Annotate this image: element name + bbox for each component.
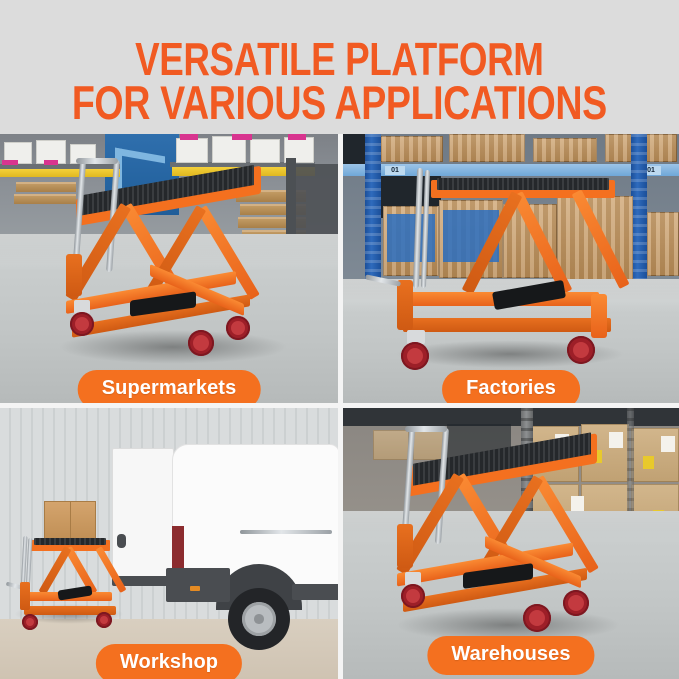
cardboard-box xyxy=(44,501,96,541)
rack-upright xyxy=(365,134,381,284)
panel-supermarkets[interactable]: Supermarkets xyxy=(0,134,338,403)
van-marker-light xyxy=(190,586,200,591)
pump-housing xyxy=(20,582,30,610)
pink-label xyxy=(180,134,198,140)
cardboard-carton xyxy=(373,430,409,460)
panel-label-supermarkets[interactable]: Supermarkets xyxy=(78,370,261,403)
stock-carton xyxy=(212,136,246,163)
caster-wheel xyxy=(567,336,595,364)
shipping-label xyxy=(609,432,623,448)
page-title-line-2: FOR VARIOUS APPLICATIONS xyxy=(72,81,607,125)
van-rear-bumper xyxy=(166,568,230,602)
wood-crate xyxy=(449,134,525,162)
pink-label xyxy=(2,160,18,165)
wood-pallet xyxy=(14,194,76,204)
pink-label xyxy=(44,160,58,165)
panel-label-factories[interactable]: Factories xyxy=(442,370,580,403)
panel-factories[interactable]: 01 01 xyxy=(343,134,679,403)
pink-label xyxy=(288,134,306,140)
shelf-price-strip xyxy=(0,169,120,177)
push-handle-crossbar xyxy=(405,426,447,432)
wood-crate xyxy=(373,136,443,162)
panel-workshop[interactable]: Workshop xyxy=(0,408,338,679)
beam-location-tag: 01 xyxy=(385,166,405,175)
cart-shadow xyxy=(58,330,288,364)
caster-wheel xyxy=(70,312,94,336)
pink-label xyxy=(232,134,252,140)
caster-wheel xyxy=(188,330,214,356)
base-frame-upright xyxy=(591,294,607,338)
application-image-grid: Supermarkets 01 01 xyxy=(0,134,679,679)
platform-deck xyxy=(34,538,106,545)
shipping-label xyxy=(571,496,584,511)
hazard-label xyxy=(643,456,654,469)
caster-wheel xyxy=(22,614,38,630)
stock-carton xyxy=(250,139,280,163)
panel-warehouses[interactable]: Warehouses xyxy=(343,408,679,679)
page-title-line-1: VERSATILE PLATFORM xyxy=(135,38,544,81)
wood-pallet xyxy=(16,182,76,192)
caster-wheel xyxy=(96,612,112,628)
caster-wheel xyxy=(401,342,429,370)
wood-crate xyxy=(647,212,679,276)
shipping-label xyxy=(661,436,675,452)
panel-label-workshop[interactable]: Workshop xyxy=(96,644,242,679)
pump-housing xyxy=(66,254,82,296)
wood-crate xyxy=(533,138,597,162)
base-frame-rail xyxy=(403,318,611,332)
pump-housing xyxy=(397,524,413,568)
header-banner: VERSATILE PLATFORM FOR VARIOUS APPLICATI… xyxy=(0,0,679,134)
caster-wheel xyxy=(401,584,425,608)
van-side-moulding xyxy=(240,530,332,534)
van-side-skirt xyxy=(292,584,338,600)
platform-deck xyxy=(437,178,609,190)
panel-label-warehouses[interactable]: Warehouses xyxy=(427,636,594,675)
push-handle-crossbar xyxy=(76,158,118,164)
caster-wheel xyxy=(563,590,589,616)
van-rear-door-open xyxy=(112,448,174,584)
van-wheel-rim xyxy=(242,602,276,636)
stock-carton xyxy=(176,138,208,163)
pump-housing xyxy=(397,280,413,330)
caster-wheel xyxy=(523,604,551,632)
van-door-handle xyxy=(117,534,126,548)
caster-wheel xyxy=(226,316,250,340)
rack-upright xyxy=(631,134,647,284)
